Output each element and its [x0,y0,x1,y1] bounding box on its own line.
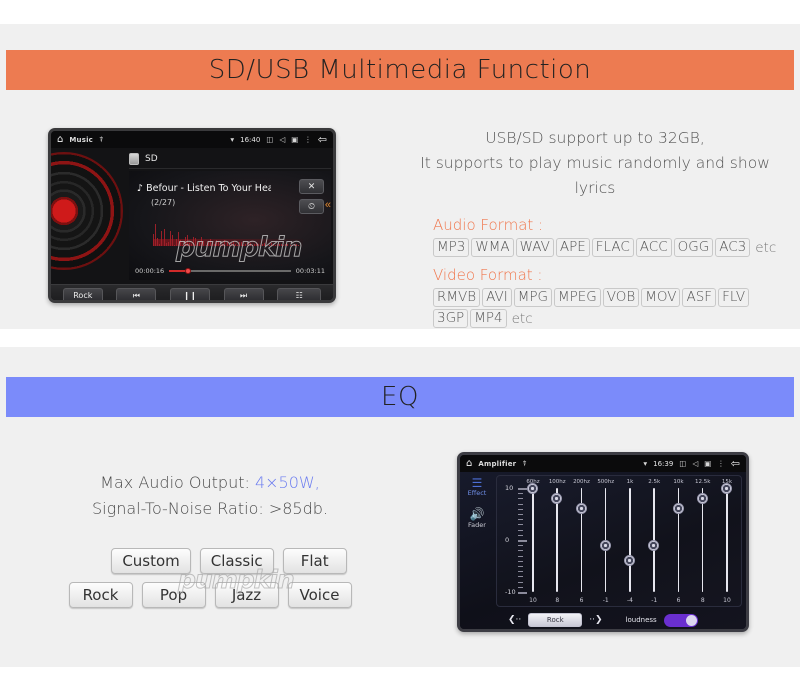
amplifier-preset-button[interactable]: Rock [528,613,582,627]
waveform-bar [254,244,255,246]
waveform-bar [189,243,190,246]
eq-banner: EQ [6,377,794,417]
eq-band-slider[interactable] [693,488,713,592]
waveform-bar [296,244,297,246]
picture-icon[interactable]: ▣ [291,136,298,144]
waveform-bar [292,245,293,246]
eq-band-knob[interactable] [721,483,732,494]
format-tag: 3GP [433,309,468,328]
eq-preset-jazz-button[interactable]: Jazz [215,582,279,608]
format-tag: MP4 [470,309,506,328]
music-app-title: Music [69,136,93,144]
waveform-bar [168,242,169,246]
sdcard-source-icon [129,153,139,165]
waveform-bar [281,244,282,246]
format-tag: WMA [471,238,513,257]
amplifier-clock: 16:39 [653,460,673,468]
eq-band-rail [532,488,534,592]
band-value-label: -1 [596,597,616,604]
overflow-menu-icon[interactable]: ⋮ [717,460,725,468]
axis-label-mid: 0 [505,536,509,544]
waveform-bar [185,237,186,246]
max-audio-output-value: 4×50W, [255,473,320,492]
music-clock: 16:40 [240,136,260,144]
waveform-bar [220,245,221,246]
waveform-bar [245,244,246,246]
frequency-labels: 60hz100hz200hz500hz1k2.5k10k12.5k15k [523,479,737,485]
waveform-bar [239,242,240,246]
waveform-bar [212,243,213,246]
eq-band-rail [629,488,631,592]
waveform-bar [224,240,225,246]
eq-preset-buttons: CustomClassicFlat RockPopJazzVoice [20,548,400,608]
eq-band-slider[interactable] [620,488,640,592]
back-arrow-icon[interactable]: ⇦ [318,133,327,146]
volume-icon[interactable]: ◁ [279,136,285,144]
waveform-bar [256,243,257,246]
waveform-bar [277,244,278,246]
music-player-device: ⌂ Music ⍒ ▾ 16:40 ◫ ◁ ▣ ⋮ ⇦ SD ♪Befour -… [48,128,336,303]
waveform-bar [243,245,244,246]
waveform-bar [269,245,270,246]
format-tag: MPEG [554,288,601,307]
waveform-bar [218,241,219,246]
eq-band-knob[interactable] [624,555,635,566]
waveform-bar [248,242,249,246]
waveform-bar [237,245,238,246]
band-value-label: -1 [644,597,664,604]
amplifier-device: ⌂ Amplifier ⍒ ▾ 16:39 ◫ ◁ ▣ ⋮ ⇦ ☰ Effect… [457,452,749,632]
waveform-bar [287,244,288,246]
waveform-bar [266,245,267,246]
chevron-left-icon[interactable]: ❮·· [508,615,521,625]
waveform-bar [271,243,272,246]
sd-usb-text-block: USB/SD support up to 32GB, It supports t… [405,126,785,328]
wifi-icon: ▾ [643,460,647,468]
picture-icon[interactable]: ▣ [704,460,711,468]
eq-band-rail [726,488,728,592]
eq-preset-row-1: CustomClassicFlat [20,548,400,574]
eq-band-knob[interactable] [697,493,708,504]
eq-band-slider[interactable] [547,488,567,592]
eq-band-slider[interactable] [523,488,543,592]
sd-lead-line-2: It supports to play music randomly and s… [405,151,785,201]
sidebar-item-effect[interactable]: Effect [460,489,494,497]
band-value-label: -4 [620,597,640,604]
eq-preset-voice-button[interactable]: Voice [288,582,352,608]
playlist-icon[interactable]: ☷ [277,288,321,303]
format-tag: OGG [674,238,714,257]
music-player-body: SD ♪Befour - Listen To Your Heart.m... (… [51,148,333,303]
frequency-label: 1k [620,479,640,485]
waveform-bar [222,244,223,246]
waveform-bar [290,245,291,246]
gain-axis: 10 0 -10 [505,488,523,592]
eq-preset-rock-button[interactable]: Rock [69,582,133,608]
waveform-bar [201,237,202,246]
waveform-bar [187,235,188,246]
format-tag: WAV [516,238,554,257]
band-value-label: 10 [717,597,737,604]
waveform-bar [155,224,156,246]
back-arrow-icon[interactable]: ⇦ [731,457,740,470]
pause-icon[interactable]: ❙❙ [170,288,210,303]
previous-track-icon[interactable]: ⏮ [116,288,156,303]
eq-preset-classic-button[interactable]: Classic [200,548,274,574]
waveform-bar [279,244,280,246]
next-track-icon[interactable]: ⏭ [224,288,264,303]
video-format-group: Video Format : RMVBAVIMPGMPEGVOBMOVASFFL… [405,265,785,328]
waveform-bar [197,245,198,246]
overflow-menu-icon[interactable]: ⋮ [304,136,312,144]
format-tag: AVI [482,288,512,307]
track-count: (2/27) [151,198,175,207]
source-label: SD [145,154,158,164]
volume-icon[interactable]: ◁ [692,460,698,468]
format-tag: RMVB [433,288,480,307]
sdcard-icon: ◫ [679,460,686,468]
waveform-bar [298,245,299,246]
amplifier-body: ☰ Effect 🔊 Fader 60hz100hz200hz500hz1k2.… [460,472,746,632]
waveform-bar [283,245,284,246]
format-tag: FLAC [592,238,634,257]
axis-label-top: 10 [505,484,513,492]
waveform-bar [231,243,232,246]
equalizer-graph: 60hz100hz200hz500hz1k2.5k10k12.5k15k 10 … [496,475,742,607]
waveform-bar [275,245,276,246]
waveform-bar [285,244,286,246]
waveform-bar [172,235,173,246]
vinyl-record-graphic [48,152,123,270]
audio-format-tag-list: MP3WMAWAVAPEFLACACCOGGAC3etc [433,238,785,257]
waveform-bar [178,232,179,246]
waveform-bar [191,244,192,246]
eq-preset-flat-button[interactable]: Flat [283,548,347,574]
waveform-bar [264,243,265,246]
format-tag: FLV [718,288,749,307]
signal-noise-ratio-line: Signal-To-Noise Ratio: >85db. [20,496,400,522]
eq-band-knob[interactable] [576,503,587,514]
now-playing-area: ♪Befour - Listen To Your Heart.m... (2/2… [129,171,331,280]
home-icon[interactable]: ⌂ [57,134,63,145]
waveform-graphic [153,222,303,258]
waveform-bar [235,244,236,246]
screenshot-icon[interactable]: ⍒ [99,136,104,144]
format-tag: ASF [682,288,716,307]
band-value-label: 6 [669,597,689,604]
amplifier-bottom-bar: ❮·· Rock ··❯ loudness [496,609,742,631]
shuffle-icon[interactable]: ✕ [299,179,324,194]
source-row[interactable]: SD [129,150,331,169]
transport-bar: Rock ⏮ ❙❙ ⏭ ☷ [51,284,333,303]
waveform-bar [262,244,263,246]
eq-preset-button[interactable]: Rock [63,288,103,303]
format-tag: MOV [641,288,680,307]
equalizer-icon[interactable]: ⏲ [299,199,324,214]
eq-band-slider[interactable] [669,488,689,592]
frequency-label: 100hz [547,479,567,485]
waveform-bar [216,240,217,246]
eq-band-slider[interactable] [596,488,616,592]
sliders-icon[interactable]: ☰ [460,477,494,489]
eq-band-slider[interactable] [717,488,737,592]
format-etc: etc [755,240,776,256]
waveform-bar [208,241,209,246]
waveform-bar [233,241,234,246]
waveform-bar [260,245,261,246]
track-title-row: ♪Befour - Listen To Your Heart.m... [137,183,271,194]
band-value-label: 10 [523,597,543,604]
waveform-bar [180,240,181,246]
waveform-bar [241,242,242,246]
format-tag: MPG [514,288,552,307]
promo-page: SD/USB Multimedia Function ⌂ Music ⍒ ▾ 1… [0,0,800,686]
music-note-icon: ♪ [137,183,143,194]
sd-lead-line-1: USB/SD support up to 32GB, [405,126,785,151]
format-etc: etc [512,311,533,327]
format-tag: VOB [603,288,639,307]
waveform-bar [170,231,171,246]
amplifier-sidebar: ☰ Effect 🔊 Fader [460,472,494,632]
screenshot-icon[interactable]: ⍒ [522,460,527,468]
loudness-toggle-knob [686,615,697,626]
frequency-label: 10k [669,479,689,485]
waveform-bar [206,245,207,246]
max-audio-output-label: Max Audio Output: [100,473,255,492]
waveform-bar [166,243,167,247]
frequency-label: 500hz [596,479,616,485]
waveform-bar [176,239,177,246]
seek-knob[interactable] [185,268,191,274]
seek-track[interactable] [169,270,291,272]
waveform-bar [195,238,196,246]
chevron-right-icon[interactable]: ··❯ [589,615,602,625]
sidebar-item-fader[interactable]: Fader [460,521,494,529]
band-value-label: 8 [693,597,713,604]
eq-band-knob[interactable] [527,483,538,494]
eq-band-knob[interactable] [648,540,659,551]
waveform-bar [199,242,200,246]
waveform-bar [174,245,175,246]
video-format-tag-list: RMVBAVIMPGMPEGVOBMOVASFFLV3GPMP4etc [433,288,785,328]
eq-preset-pop-button[interactable]: Pop [142,582,206,608]
waveform-bar [203,241,204,246]
waveform-bar [157,238,158,246]
amplifier-status-bar: ⌂ Amplifier ⍒ ▾ 16:39 ◫ ◁ ▣ ⋮ ⇦ [460,455,746,472]
equalizer-bands [523,488,737,592]
format-tag: APE [556,238,590,257]
amplifier-app-title: Amplifier [478,460,516,468]
waveform-bar [210,239,211,246]
waveform-bar [250,243,251,246]
seek-bar-row[interactable]: 00:00:16 00:03:11 [135,266,325,276]
waveform-bar [159,244,160,246]
axis-tick [518,592,527,594]
duration-time: 00:03:11 [296,267,325,275]
sd-usb-banner-title: SD/USB Multimedia Function [209,55,592,85]
double-chevron-left-icon[interactable]: « [325,200,331,211]
waveform-bar [294,244,295,246]
frequency-label: 12.5k [693,479,713,485]
waveform-bar [164,229,165,246]
waveform-bar [227,242,228,246]
waveform-bar [273,244,274,246]
audio-format-title: Audio Format : [433,215,785,236]
band-value-labels: 1086-1-4-16810 [523,597,737,604]
eq-band-knob[interactable] [673,503,684,514]
axis-label-bottom: -10 [505,588,516,596]
frequency-label: 2.5k [644,479,664,485]
band-value-label: 6 [572,597,592,604]
waveform-bar [161,231,162,246]
track-title: Befour - Listen To Your Heart.m... [146,183,271,194]
video-format-title: Video Format : [433,265,785,286]
eq-preset-row-2: RockPopJazzVoice [20,582,400,608]
eq-band-knob[interactable] [600,540,611,551]
format-tag: AC3 [715,238,750,257]
sdcard-icon: ◫ [266,136,273,144]
frequency-label: 200hz [572,479,592,485]
eq-band-slider[interactable] [644,488,664,592]
home-icon[interactable]: ⌂ [466,458,472,469]
loudness-toggle[interactable] [664,614,698,627]
wifi-icon: ▾ [230,136,234,144]
music-status-bar: ⌂ Music ⍒ ▾ 16:40 ◫ ◁ ▣ ⋮ ⇦ [51,131,333,148]
waveform-bar [258,244,259,246]
waveform-bar [153,234,154,246]
audio-format-group: Audio Format : MP3WMAWAVAPEFLACACCOGGAC3… [405,215,785,257]
sd-usb-banner: SD/USB Multimedia Function [6,50,794,90]
waveform-bar [193,237,194,246]
eq-text-block: Max Audio Output: 4×50W, Signal-To-Noise… [20,470,400,616]
waveform-bar [214,244,215,246]
waveform-bar [252,245,253,246]
band-value-label: 8 [547,597,567,604]
seek-fill [169,270,185,272]
eq-band-knob[interactable] [551,493,562,504]
elapsed-time: 00:00:16 [135,267,164,275]
format-tag: MP3 [433,238,469,257]
speaker-icon[interactable]: 🔊 [460,507,494,521]
eq-banner-title: EQ [381,382,419,412]
eq-band-slider[interactable] [572,488,592,592]
eq-preset-custom-button[interactable]: Custom [111,548,190,574]
format-tag: ACC [636,238,672,257]
waveform-bar [229,245,230,246]
max-audio-output-line: Max Audio Output: 4×50W, [20,470,400,496]
waveform-bar [182,245,183,246]
loudness-label: loudness [626,616,657,624]
